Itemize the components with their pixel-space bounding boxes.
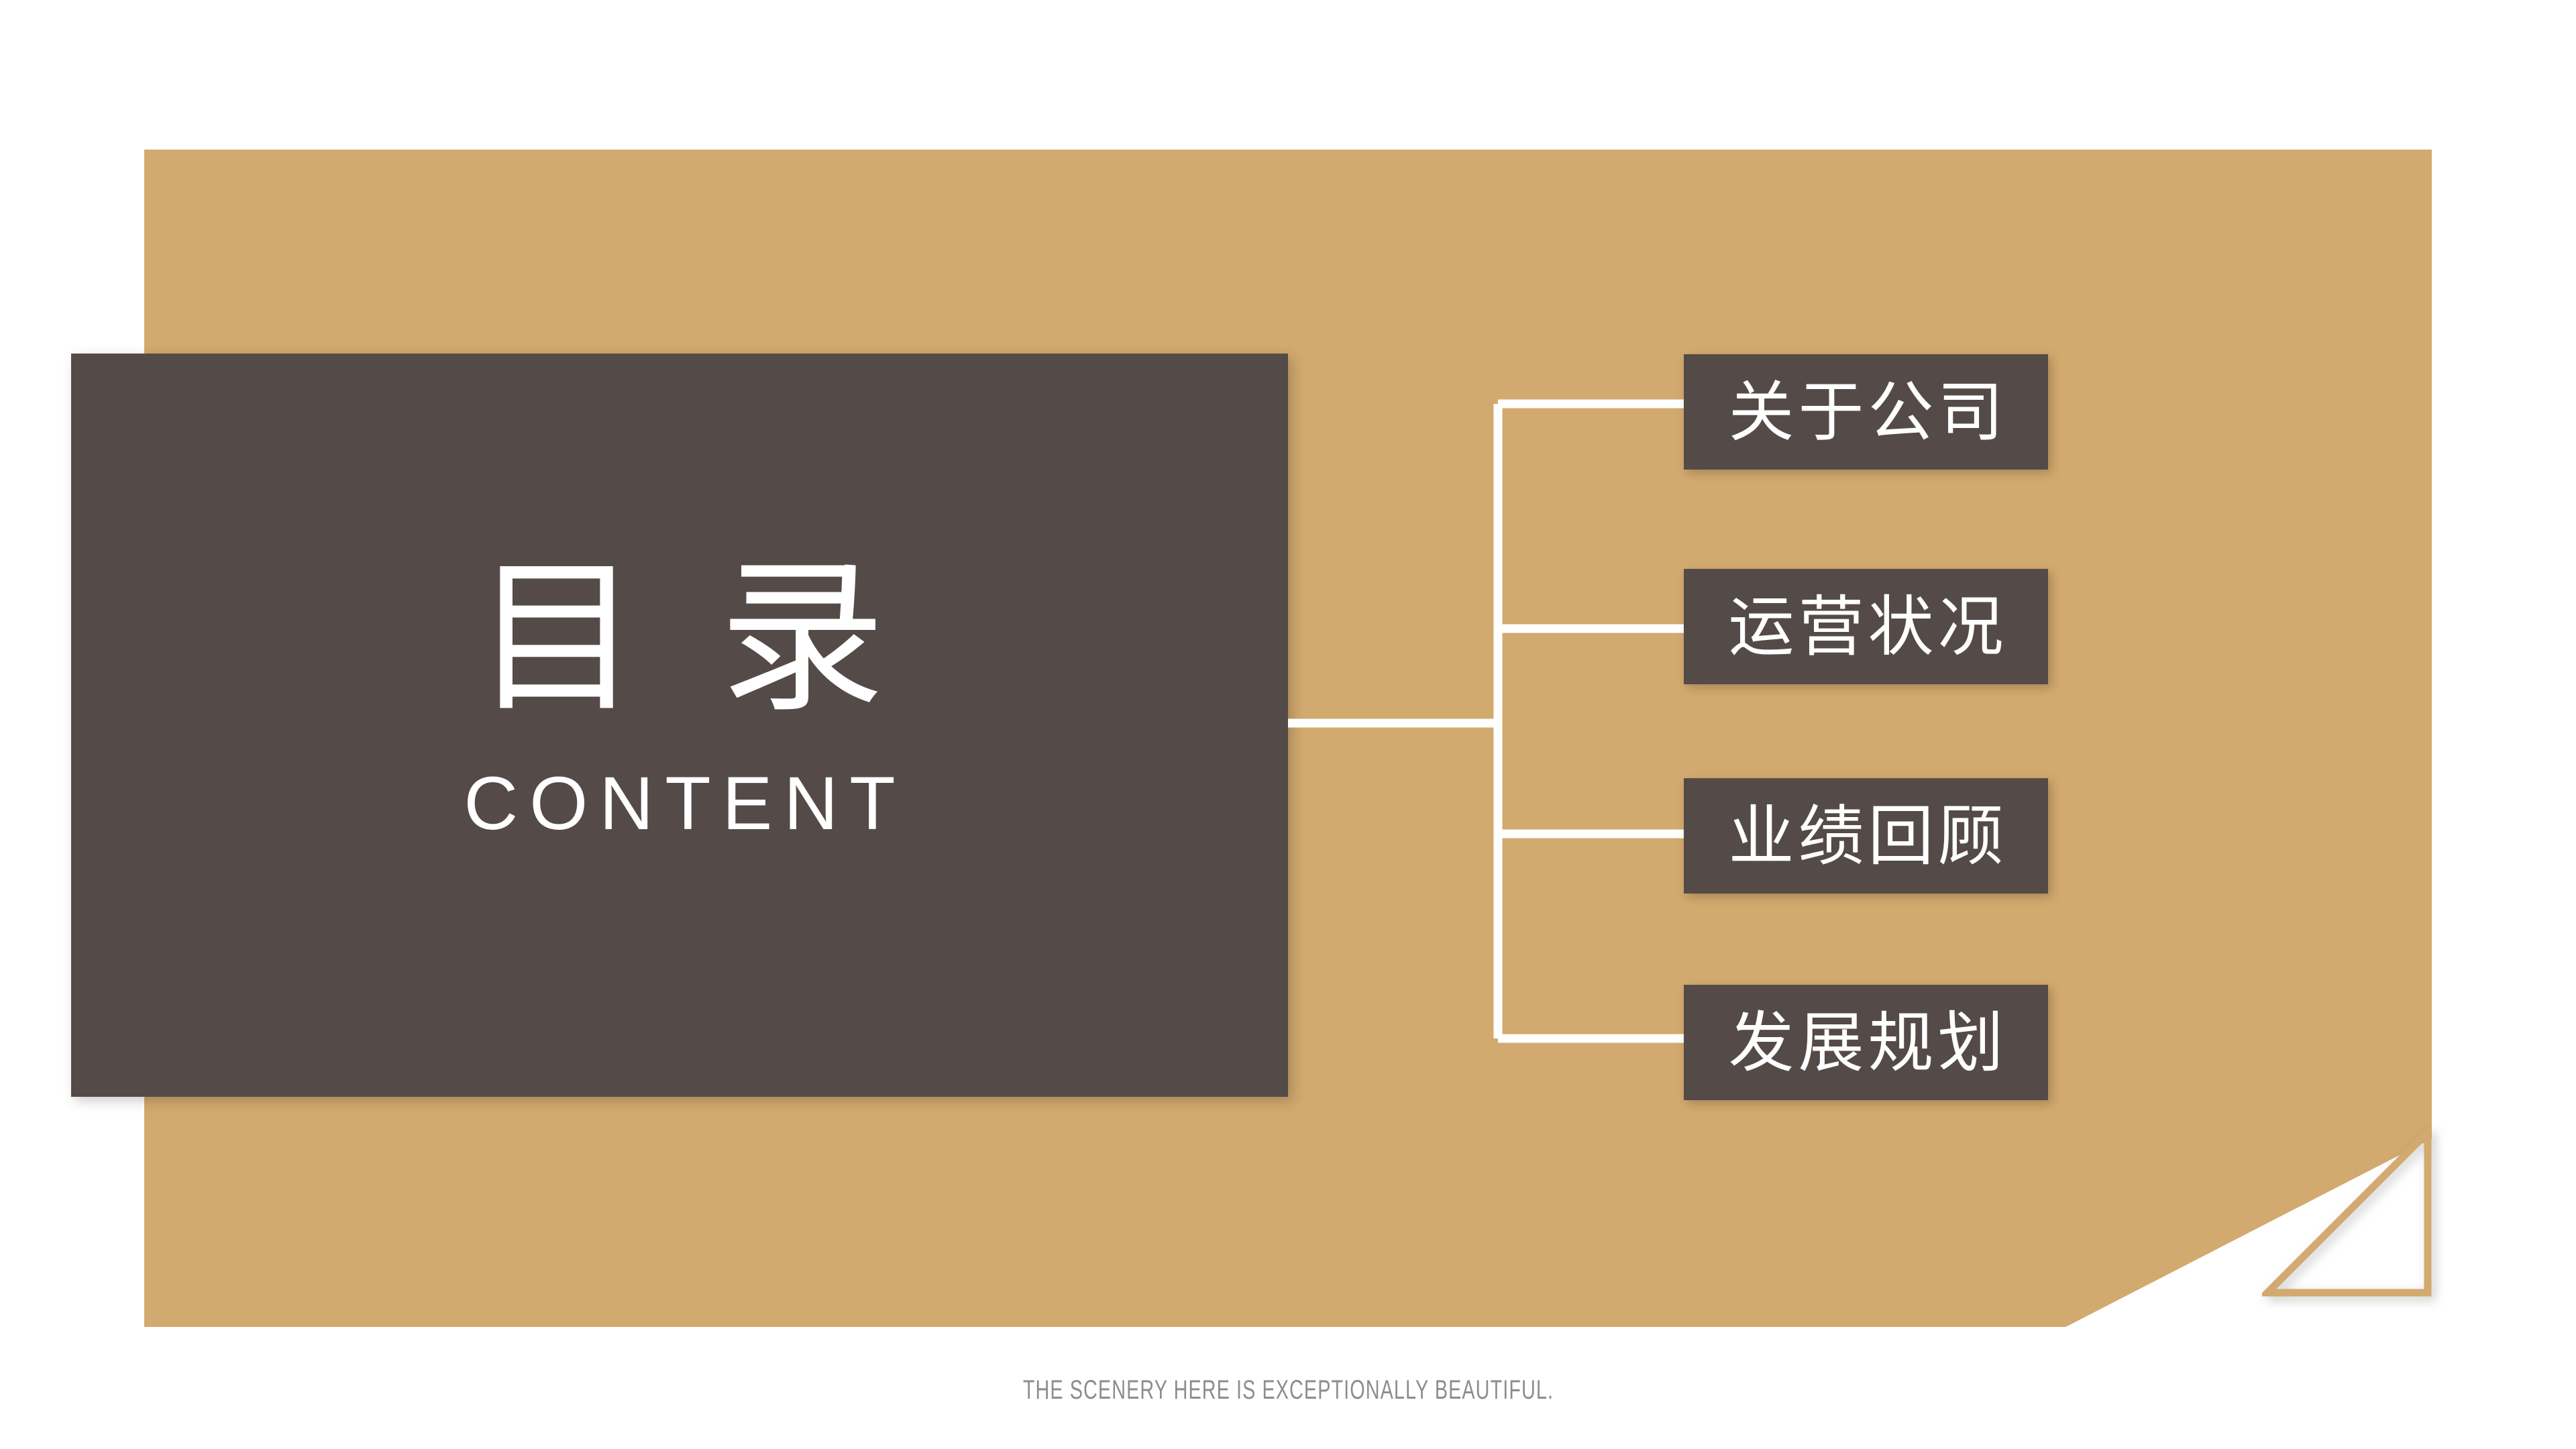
title-panel: 目 录 CONTENT <box>71 354 1288 1097</box>
toc-item-2[interactable]: 运营状况 <box>1684 569 2048 684</box>
folded-corner-icon <box>2262 1127 2433 1298</box>
page-title: 目 录 <box>71 555 1288 721</box>
toc-item-3-label: 业绩回顾 <box>1724 803 2007 869</box>
toc-item-1[interactable]: 关于公司 <box>1684 354 2048 470</box>
footer: THE SCENERY HERE IS EXCEPTIONALLY BEAUTI… <box>0 1375 2576 1405</box>
toc-item-1-label: 关于公司 <box>1724 379 2007 445</box>
footer-text: THE SCENERY HERE IS EXCEPTIONALLY BEAUTI… <box>1022 1375 1553 1405</box>
page-subtitle: CONTENT <box>71 760 1288 847</box>
toc-item-4[interactable]: 发展规划 <box>1684 985 2048 1100</box>
title-stack: 目 录 CONTENT <box>71 555 1288 847</box>
toc-item-2-label: 运营状况 <box>1724 594 2007 659</box>
toc-item-4-label: 发展规划 <box>1724 1010 2007 1075</box>
slide-canvas: 目 录 CONTENT 关于公司 运营状况 <box>0 0 2576 1449</box>
toc-item-3[interactable]: 业绩回顾 <box>1684 778 2048 894</box>
